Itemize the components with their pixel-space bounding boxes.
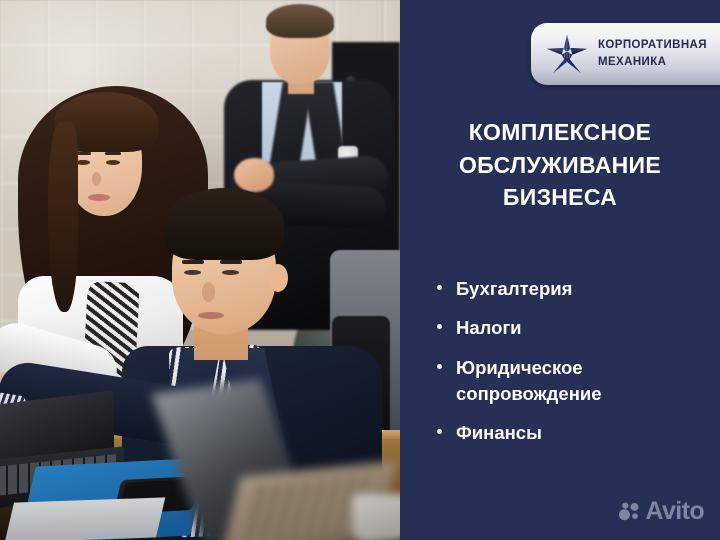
star-logo-icon <box>545 32 589 76</box>
list-item: Юридическое сопровождение <box>434 355 720 408</box>
paper-documents <box>5 497 166 540</box>
headline-line-3: БИЗНЕСА <box>400 181 720 214</box>
logo-line-1: КОРПОРАТИВНАЯ <box>598 37 707 54</box>
list-item: Финансы <box>434 420 720 446</box>
logo-wordmark: КОРПОРАТИВНАЯ МЕХАНИКА <box>598 37 707 70</box>
ad-banner: КОРПОРАТИВНАЯ МЕХАНИКА КОМПЛЕКСНОЕ ОБСЛУ… <box>0 0 720 540</box>
headline-line-1: КОМПЛЕКСНОЕ <box>400 116 720 149</box>
headline-line-2: ОБСЛУЖИВАНИЕ <box>400 149 720 182</box>
avito-wordmark: Avito <box>645 497 704 526</box>
list-item: Налоги <box>434 315 720 341</box>
avito-watermark: Avito <box>618 497 704 526</box>
avito-dots-icon <box>618 501 640 523</box>
headline: КОМПЛЕКСНОЕ ОБСЛУЖИВАНИЕ БИЗНЕСА <box>400 116 720 214</box>
logo-line-2: МЕХАНИКА <box>598 54 707 71</box>
company-logo-badge[interactable]: КОРПОРАТИВНАЯ МЕХАНИКА <box>531 23 720 85</box>
services-list: Бухгалтерия Налоги Юридическое сопровожд… <box>434 276 720 459</box>
list-item: Бухгалтерия <box>434 276 720 302</box>
foreground-cup <box>352 494 400 540</box>
content-panel: КОРПОРАТИВНАЯ МЕХАНИКА КОМПЛЕКСНОЕ ОБСЛУ… <box>400 0 720 540</box>
office-team-photo <box>0 0 400 540</box>
